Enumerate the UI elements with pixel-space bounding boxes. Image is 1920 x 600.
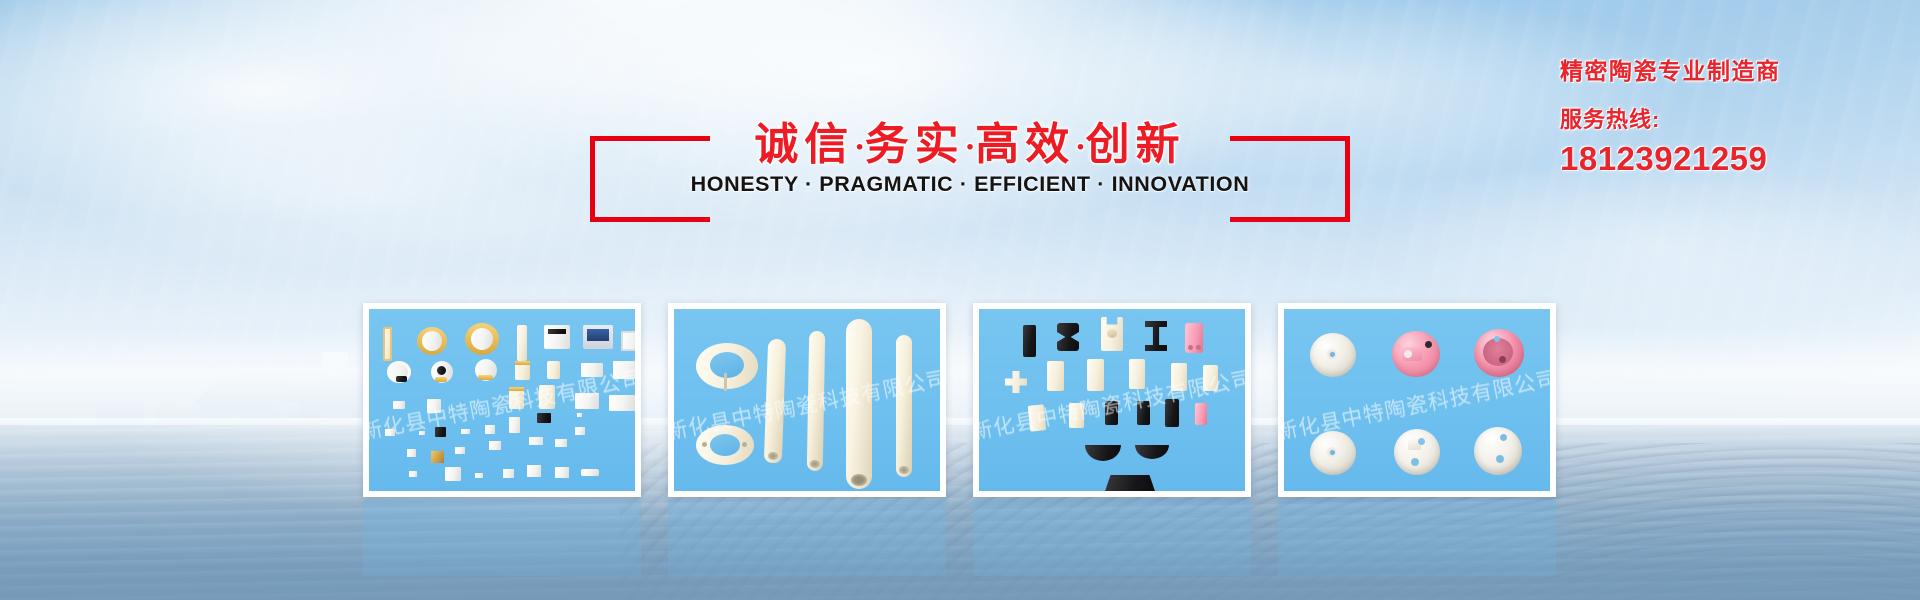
panel-image: 新化县中特陶瓷科技有限公司	[979, 309, 1245, 491]
product-panel-ceramic-discs[interactable]: 新化县中特陶瓷科技有限公司	[1278, 303, 1556, 497]
product-panel-chip-components[interactable]: 新化县中特陶瓷科技有限公司	[363, 303, 641, 497]
panel-image: 新化县中特陶瓷科技有限公司	[369, 309, 635, 491]
product-panel-ceramic-blocks[interactable]: 新化县中特陶瓷科技有限公司	[973, 303, 1251, 497]
panel-image: 新化县中特陶瓷科技有限公司	[674, 309, 940, 491]
product-panel-row: 新化县中特陶瓷科技有限公司	[0, 0, 1920, 600]
panel-image: 新化县中特陶瓷科技有限公司	[1284, 309, 1550, 491]
product-panel-ceramic-tubes[interactable]: 新化县中特陶瓷科技有限公司	[668, 303, 946, 497]
hero-banner: 诚信·务实·高效·创新 HONESTY · PRAGMATIC · EFFICI…	[0, 0, 1920, 600]
